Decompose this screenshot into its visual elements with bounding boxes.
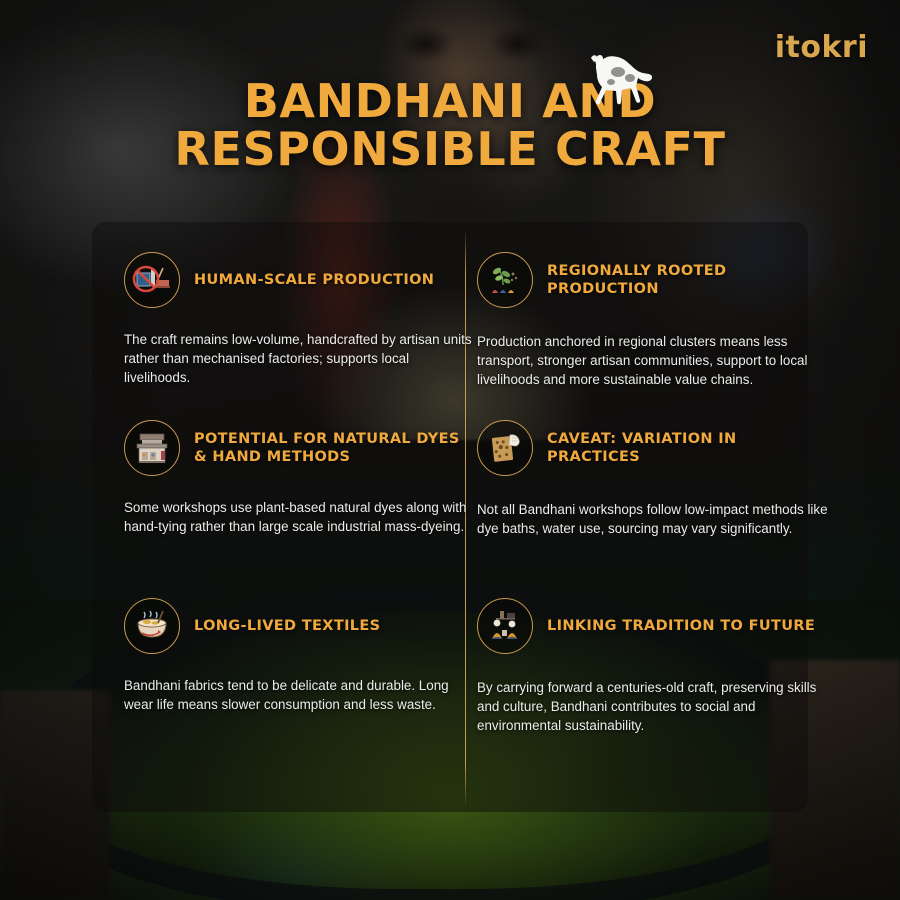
- card-header: REGIONALLY ROOTED PRODUCTION: [477, 252, 829, 308]
- card-header: CAVEAT: VARIATION IN PRACTICES: [477, 420, 829, 476]
- card-body: Production anchored in regional clusters…: [477, 332, 829, 389]
- workshop-building-icon: [124, 420, 180, 476]
- card-body: By carrying forward a centuries-old craf…: [477, 678, 829, 735]
- card-natural-dyes-hand-methods: POTENTIAL FOR NATURAL DYES & HAND METHOD…: [124, 420, 476, 536]
- card-title: LINKING TRADITION TO FUTURE: [547, 617, 815, 635]
- card-body: Bandhani fabrics tend to be delicate and…: [124, 676, 476, 714]
- card-regionally-rooted-production: REGIONALLY ROOTED PRODUCTION Production …: [477, 252, 829, 389]
- card-title: POTENTIAL FOR NATURAL DYES & HAND METHOD…: [194, 430, 476, 467]
- card-title: CAVEAT: VARIATION IN PRACTICES: [547, 430, 829, 467]
- card-header: HUMAN-SCALE PRODUCTION: [124, 252, 476, 308]
- two-artisans-icon: [477, 598, 533, 654]
- cow-icon: [578, 52, 670, 120]
- card-linking-tradition-to-future: LINKING TRADITION TO FUTURE By carrying …: [477, 598, 829, 735]
- card-caveat-variation: CAVEAT: VARIATION IN PRACTICES Not all B…: [477, 420, 829, 538]
- card-long-lived-textiles: LONG-LIVED TEXTILES Bandhani fabrics ten…: [124, 598, 476, 714]
- card-body: Some workshops use plant-based natural d…: [124, 498, 476, 536]
- card-body: The craft remains low-volume, handcrafte…: [124, 330, 476, 387]
- no-factory-icon: [124, 252, 180, 308]
- hand-holding-fabric-icon: [477, 420, 533, 476]
- card-header: LINKING TRADITION TO FUTURE: [477, 598, 829, 654]
- card-body: Not all Bandhani workshops follow low-im…: [477, 500, 829, 538]
- card-header: POTENTIAL FOR NATURAL DYES & HAND METHOD…: [124, 420, 476, 476]
- card-title: LONG-LIVED TEXTILES: [194, 617, 380, 635]
- card-title: REGIONALLY ROOTED PRODUCTION: [547, 262, 829, 299]
- cards-grid: HUMAN-SCALE PRODUCTION The craft remains…: [92, 222, 808, 812]
- card-human-scale-production: HUMAN-SCALE PRODUCTION The craft remains…: [124, 252, 476, 387]
- card-header: LONG-LIVED TEXTILES: [124, 598, 476, 654]
- infographic-canvas: itokri BANDHANI AND RESPONSIBLE CRAFT: [0, 0, 900, 900]
- dye-pot-icon: [124, 598, 180, 654]
- brand-logo[interactable]: itokri: [775, 30, 868, 65]
- sprout-dye-icon: [477, 252, 533, 308]
- card-title: HUMAN-SCALE PRODUCTION: [194, 271, 434, 289]
